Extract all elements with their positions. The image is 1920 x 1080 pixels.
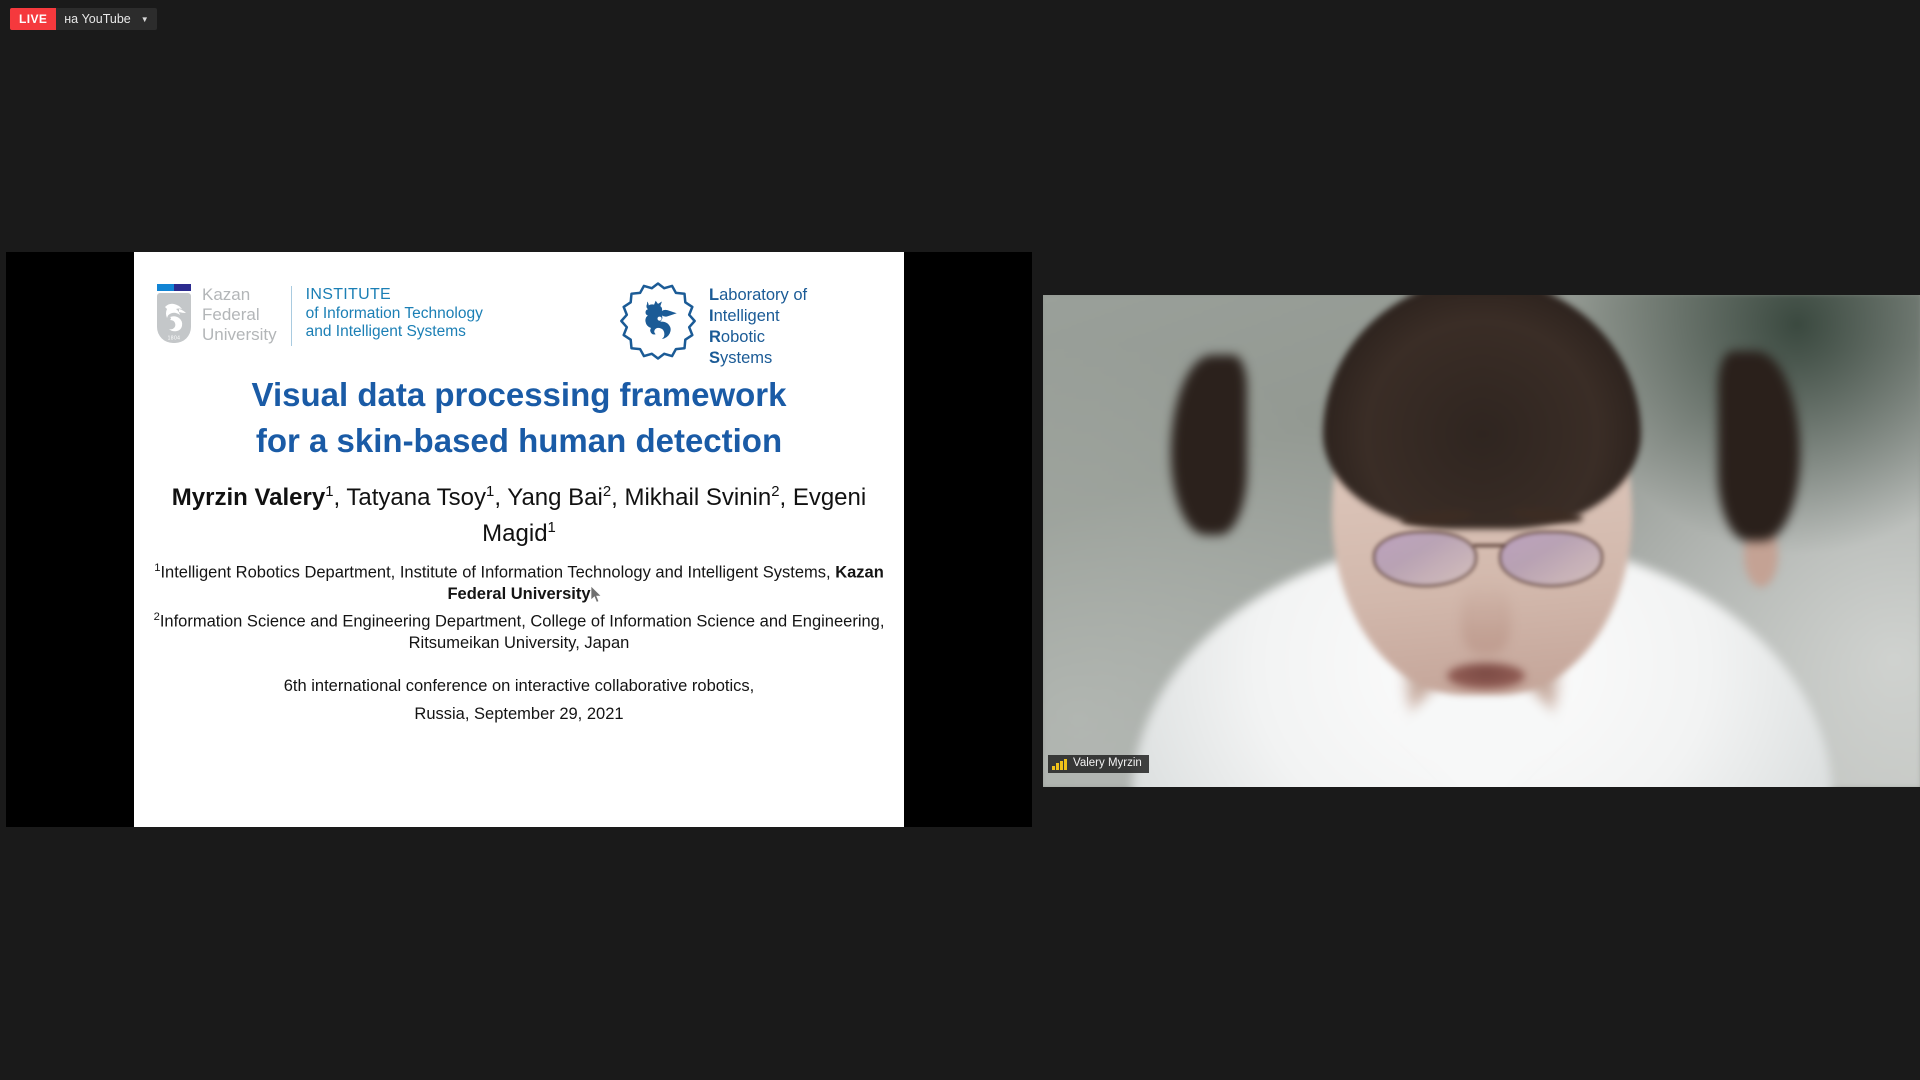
lirs-line-1: Laboratory of	[709, 285, 807, 306]
lirs-initial-l: L	[709, 286, 719, 304]
kfu-line-3: University	[202, 325, 277, 345]
kfu-line-1: Kazan	[202, 285, 277, 305]
slide-title: Visual data processing framework for a s…	[164, 372, 874, 464]
video-blur-overlay	[1043, 295, 1920, 787]
affiliation-2-text: Information Science and Engineering Depa…	[160, 613, 885, 652]
institute-line-3: and Intelligent Systems	[306, 323, 483, 342]
slide-title-line-1: Visual data processing framework	[164, 372, 874, 418]
lirs-name-text: Laboratory of Intelligent Robotic System…	[709, 282, 807, 369]
chevron-down-icon[interactable]: ▼	[137, 8, 157, 30]
institute-line-2: of Information Technology	[306, 305, 483, 324]
presentation-slide: 1804 Kazan Federal University INSTITUTE …	[134, 252, 904, 827]
live-destination-label: на YouTube	[56, 8, 136, 30]
author-bai: , Yang Bai	[494, 484, 603, 511]
affiliation-2: 2Information Science and Engineering Dep…	[152, 607, 886, 654]
affiliation-1-text: Intelligent Robotics Department, Institu…	[160, 564, 835, 582]
kazan-federal-university-logo: 1804 Kazan Federal University INSTITUTE …	[154, 284, 483, 346]
svg-text:1804: 1804	[168, 336, 181, 342]
author-magid-sup: 1	[548, 520, 556, 536]
kfu-line-2: Federal	[202, 305, 277, 325]
slide-logo-header: 1804 Kazan Federal University INSTITUTE …	[134, 282, 904, 370]
kfu-zilant-emblem-icon: 1804	[157, 293, 191, 343]
participant-name-text: Valery Myrzin	[1073, 758, 1142, 770]
lirs-rest-1: aboratory of	[719, 286, 807, 304]
author-separator: ,	[779, 484, 786, 511]
conference-line-1: 6th international conference on interact…	[152, 676, 886, 697]
lirs-line-2: Intelligent	[709, 306, 807, 327]
lirs-line-3: Robotic	[709, 327, 807, 348]
lirs-logo: Laboratory of Intelligent Robotic System…	[619, 282, 807, 369]
gear-with-dragon-icon	[619, 282, 697, 360]
author-svinin: , Mikhail Svinin	[611, 484, 771, 511]
institute-line-1: INSTITUTE	[306, 286, 483, 305]
live-indicator: LIVE	[10, 8, 56, 30]
conference-line-2: Russia, September 29, 2021	[152, 704, 886, 725]
affiliation-1: 1Intelligent Robotics Department, Instit…	[152, 558, 886, 605]
author-bai-sup: 2	[603, 484, 611, 500]
lirs-rest-2: ntelligent	[714, 307, 780, 325]
kfu-shield-icon: 1804	[154, 284, 194, 346]
author-lead-name: Myrzin Valery	[172, 484, 325, 511]
lirs-initial-s: S	[709, 349, 720, 367]
kfu-bars-icon	[157, 284, 191, 291]
logo-divider	[291, 286, 292, 346]
screen-share-pane[interactable]: 1804 Kazan Federal University INSTITUTE …	[6, 252, 1032, 827]
lirs-rest-4: ystems	[720, 349, 772, 367]
slide-title-line-2: for a skin-based human detection	[164, 418, 874, 464]
participant-video-tile[interactable]: Valery Myrzin	[1043, 295, 1920, 787]
participant-name-label: Valery Myrzin	[1048, 755, 1149, 773]
institute-name-text: INSTITUTE of Information Technology and …	[306, 284, 483, 342]
audio-level-bars-icon	[1052, 759, 1068, 770]
author-tsoy: , Tatyana Tsoy	[333, 484, 486, 511]
kfu-name-text: Kazan Federal University	[202, 284, 277, 345]
slide-authors: Myrzin Valery1, Tatyana Tsoy1, Yang Bai2…	[156, 477, 882, 549]
live-stream-badge[interactable]: LIVE на YouTube ▼	[10, 8, 157, 30]
lirs-initial-r: R	[709, 328, 721, 346]
lirs-rest-3: obotic	[721, 328, 765, 346]
lirs-line-4: Systems	[709, 348, 807, 369]
